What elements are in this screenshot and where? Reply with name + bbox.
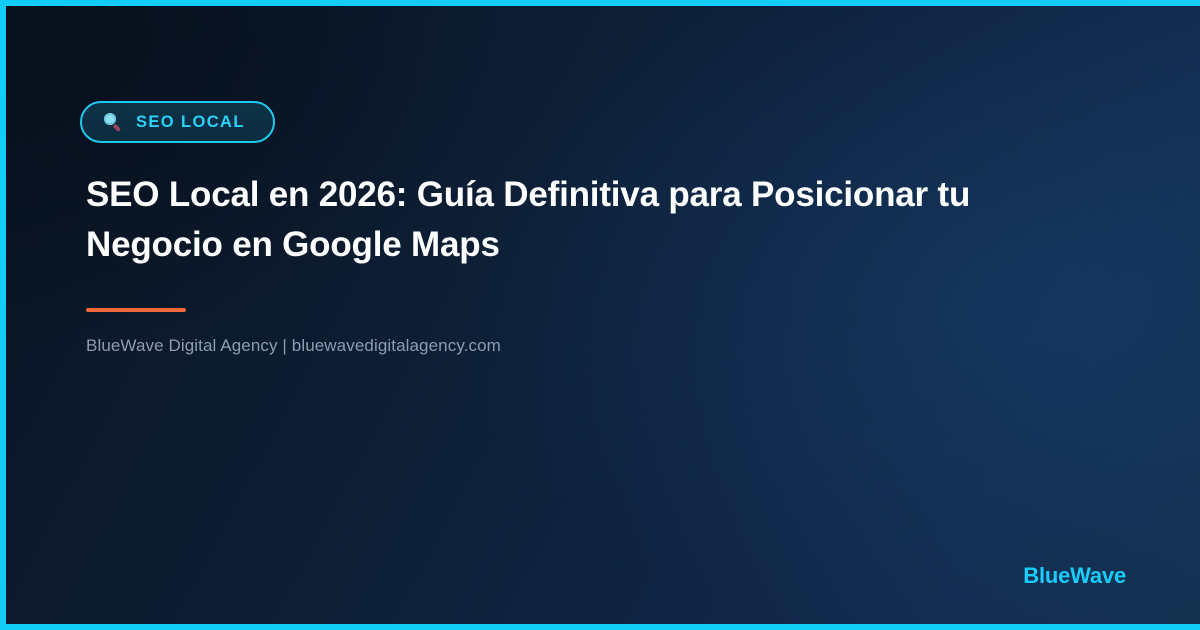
magnifying-glass-icon [104,112,124,132]
social-share-card: SEO LOCAL SEO Local en 2026: Guía Defini… [0,0,1200,630]
byline: BlueWave Digital Agency | bluewavedigita… [86,335,1100,357]
card-content: SEO LOCAL SEO Local en 2026: Guía Defini… [80,101,1100,357]
page-title: SEO Local en 2026: Guía Definitiva para … [86,170,1046,270]
magnifier-handle [113,124,121,132]
accent-divider [86,308,186,312]
category-badge[interactable]: SEO LOCAL [80,101,275,143]
category-badge-label: SEO LOCAL [136,113,245,132]
brand-logo-text[interactable]: BlueWave [1023,563,1126,589]
